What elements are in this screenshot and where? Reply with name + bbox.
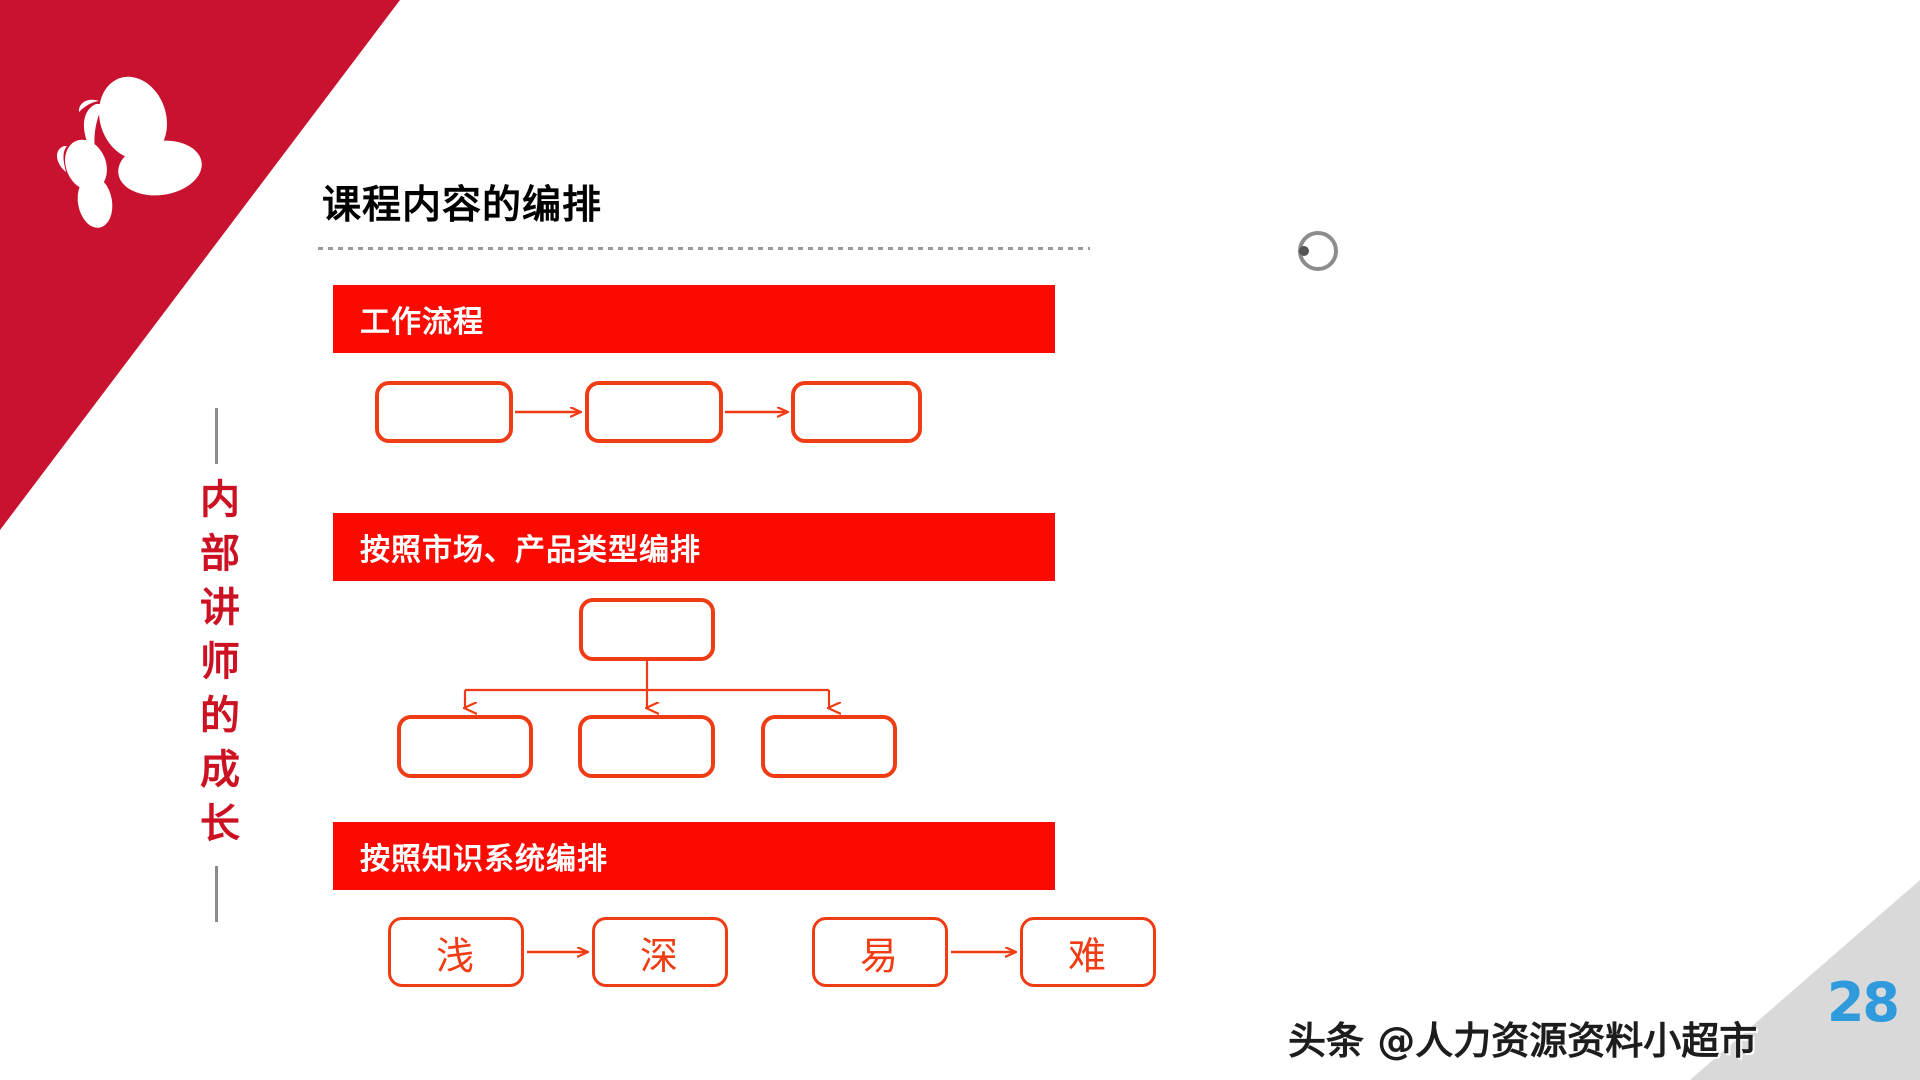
tree-child-node-2[interactable] [578, 715, 715, 778]
tree-child-node-3[interactable] [761, 715, 897, 778]
side-label-rule-bottom [215, 866, 218, 922]
workflow-node-2[interactable] [585, 381, 723, 443]
knowledge-node-hard[interactable]: 难 [1020, 917, 1156, 987]
side-label-text: 内部讲师的成长 [196, 478, 236, 856]
knowledge-node-easy[interactable]: 易 [812, 917, 948, 987]
slide-canvas: 课程内容的编排 内部讲师的成长 工作流程 按照市场、产品类型编排 [0, 0, 1920, 1080]
section-bar-label: 按照知识系统编排 [360, 834, 608, 878]
knowledge-node-deep-label: 深 [640, 925, 680, 980]
side-label-group: 内部讲师的成长 [196, 408, 236, 922]
knowledge-node-shallow[interactable]: 浅 [388, 917, 524, 987]
workflow-node-3[interactable] [791, 381, 922, 443]
page-title-block: 课程内容的编排 [322, 186, 602, 225]
section-bar-workflow: 工作流程 [333, 285, 1055, 353]
knowledge-node-hard-label: 难 [1068, 925, 1108, 980]
section-bar-knowledge-system: 按照知识系统编排 [333, 822, 1055, 890]
tree-root-node[interactable] [579, 598, 715, 661]
watermark-text: 头条 @人力资源资料小超市 [1288, 1010, 1757, 1065]
workflow-node-1[interactable] [375, 381, 513, 443]
knowledge-node-easy-label: 易 [860, 925, 900, 980]
section-bar-market-product: 按照市场、产品类型编排 [333, 513, 1055, 581]
tree-child-node-1[interactable] [397, 715, 533, 778]
title-dotted-rule [318, 247, 1090, 250]
section-bar-label: 按照市场、产品类型编排 [360, 525, 701, 569]
knowledge-node-shallow-label: 浅 [436, 925, 476, 980]
side-label-rule-top [215, 408, 218, 464]
knowledge-node-deep[interactable]: 深 [592, 917, 728, 987]
page-title: 课程内容的编排 [322, 186, 602, 225]
section-bar-label: 工作流程 [360, 297, 484, 341]
title-endpoint-circle-icon [1295, 228, 1341, 274]
page-number: 28 [1827, 971, 1898, 1034]
